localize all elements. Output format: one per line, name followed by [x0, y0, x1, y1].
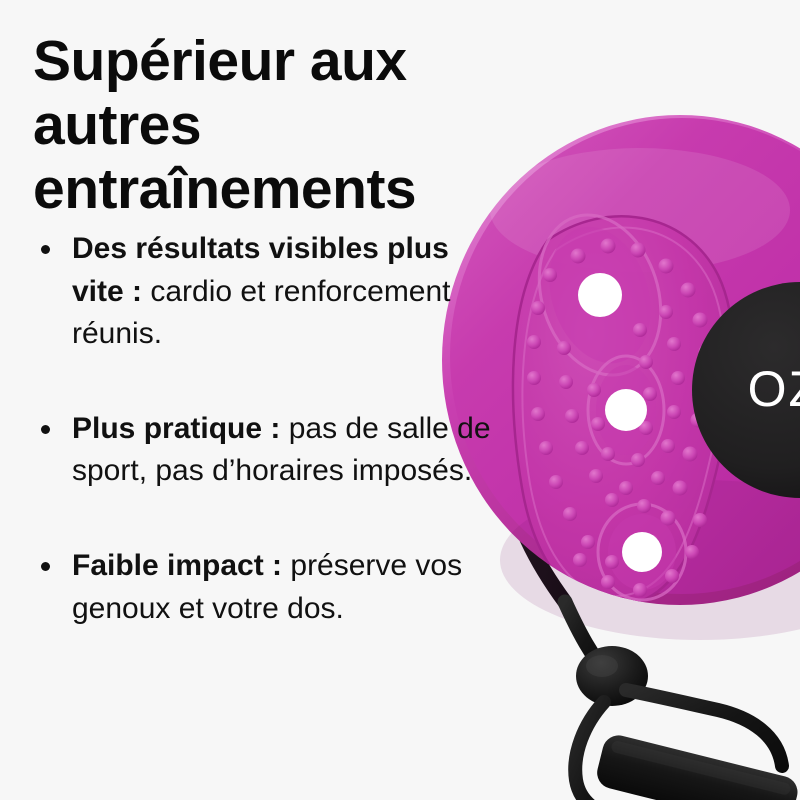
benefit-list: Des résultats visibles plus vite : cardi… [33, 228, 503, 630]
list-item: Faible impact : préserve vos genoux et v… [33, 545, 503, 630]
hole-recess-top [519, 199, 680, 391]
page-title: Supérieur aux autres entraînements [33, 30, 543, 221]
hole-recess-bottom [598, 504, 686, 600]
list-item: Des résultats visibles plus vite : cardi… [33, 228, 503, 356]
bullet-dot-icon [41, 562, 50, 571]
list-item: Plus pratique : pas de salle de sport, p… [33, 408, 503, 493]
promo-slide: OZA Supérieur aux autres entraînements [0, 0, 800, 800]
band-clip [576, 646, 648, 706]
footplate [513, 199, 733, 606]
text-column: Supérieur aux autres entraînements Des r… [0, 0, 540, 800]
benefit-lead: Plus pratique : [72, 412, 280, 445]
foam-grip [594, 732, 800, 800]
hole-top [578, 273, 622, 317]
hole-middle [605, 389, 647, 431]
brand-text: OZA [748, 361, 800, 417]
benefit-lead: Faible impact : [72, 549, 282, 582]
resistance-band-lower [565, 602, 800, 800]
center-hub: OZA [692, 282, 800, 498]
bullet-dot-icon [41, 245, 50, 254]
massage-bumps [527, 239, 714, 598]
hole-recess-middle [588, 356, 664, 464]
bullet-dot-icon [41, 425, 50, 434]
hole-bottom [622, 532, 662, 572]
